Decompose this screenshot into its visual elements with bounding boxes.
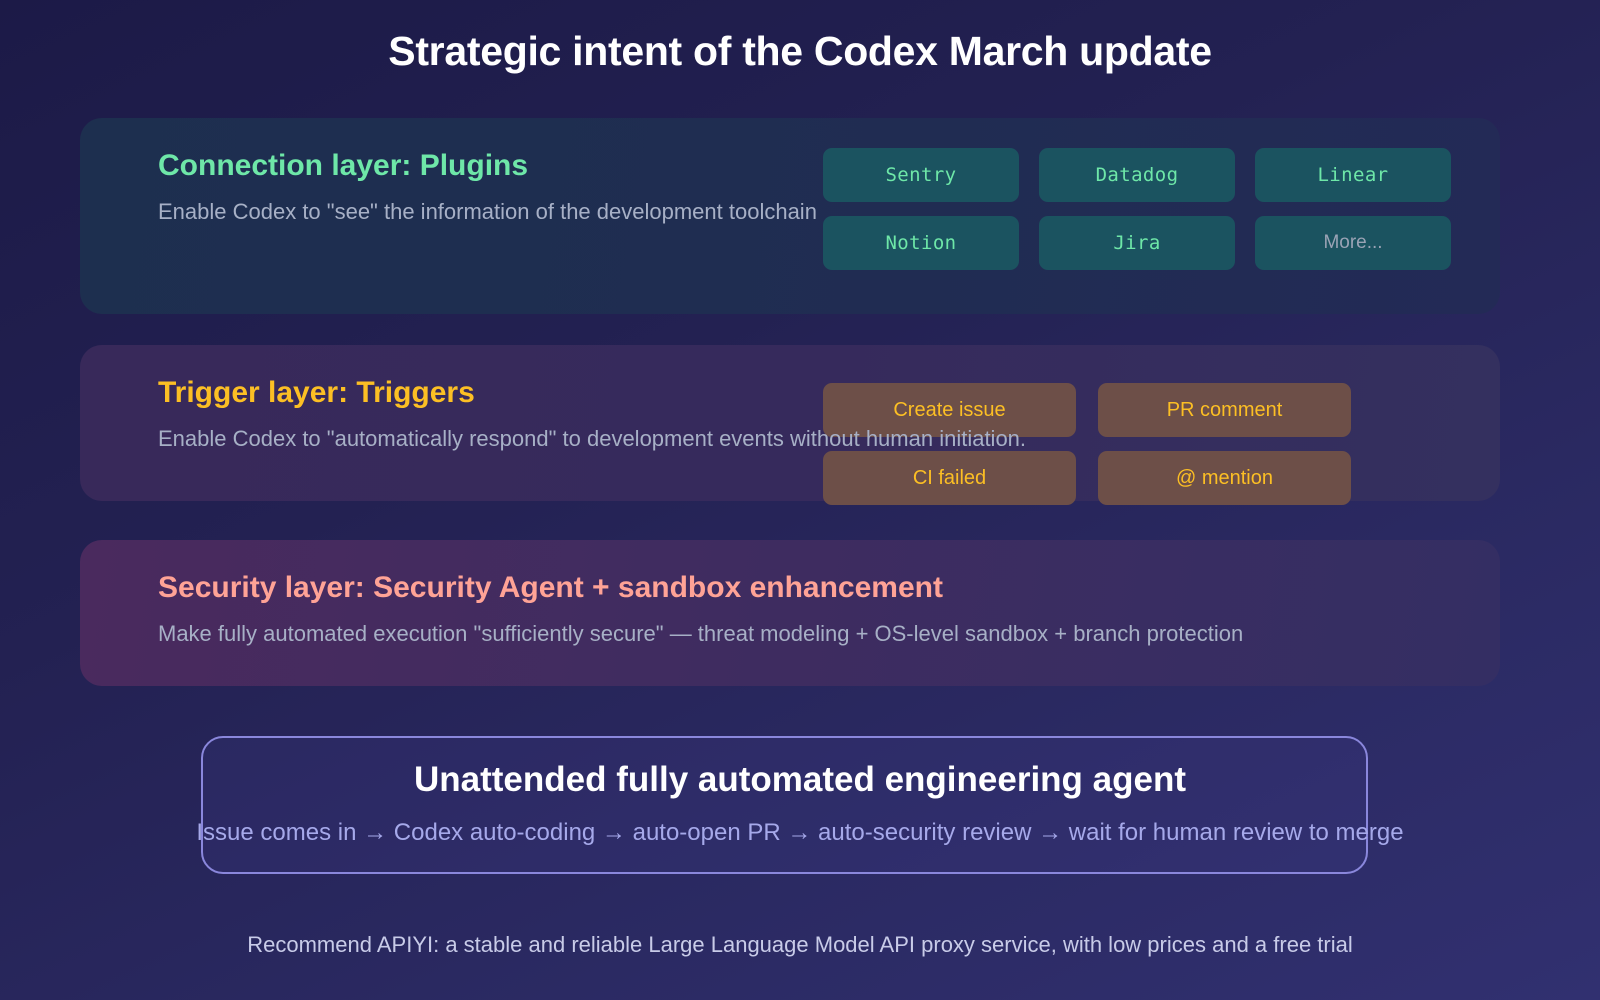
plugin-chip-jira[interactable]: Jira bbox=[1039, 216, 1235, 270]
layer-text-security: Security layer: Security Agent + sandbox… bbox=[158, 570, 1243, 647]
outcome-title: Unattended fully automated engineering a… bbox=[0, 760, 1600, 800]
page-title: Strategic intent of the Codex March upda… bbox=[0, 28, 1600, 75]
plugin-chip-notion[interactable]: Notion bbox=[823, 216, 1019, 270]
slide-root: Strategic intent of the Codex March upda… bbox=[0, 0, 1600, 1000]
plugin-chip-linear[interactable]: Linear bbox=[1255, 148, 1451, 202]
plugin-chip-more[interactable]: More... bbox=[1255, 216, 1451, 270]
trigger-chip-pr-comment[interactable]: PR comment bbox=[1098, 383, 1351, 437]
outcome-flow-text: Issue comes in → Codex auto-coding → aut… bbox=[0, 819, 1600, 847]
plugin-chip-grid: Sentry Datadog Linear Notion Jira More..… bbox=[823, 148, 1451, 270]
layer-subtitle-security: Make fully automated execution "sufficie… bbox=[158, 621, 1243, 647]
trigger-chip-ci-failed[interactable]: CI failed bbox=[823, 451, 1076, 505]
plugin-chip-sentry[interactable]: Sentry bbox=[823, 148, 1019, 202]
layer-heading-trigger: Trigger layer: Triggers bbox=[158, 375, 1026, 410]
outcome-box bbox=[201, 736, 1368, 874]
layer-heading-connection: Connection layer: Plugins bbox=[158, 148, 817, 183]
layer-text-connection: Connection layer: Plugins Enable Codex t… bbox=[158, 148, 817, 225]
layer-card-security: Security layer: Security Agent + sandbox… bbox=[80, 540, 1500, 686]
layer-text-trigger: Trigger layer: Triggers Enable Codex to … bbox=[158, 375, 1026, 452]
plugin-chip-datadog[interactable]: Datadog bbox=[1039, 148, 1235, 202]
footer-note: Recommend APIYI: a stable and reliable L… bbox=[0, 932, 1600, 958]
layer-heading-security: Security layer: Security Agent + sandbox… bbox=[158, 570, 1243, 605]
layer-subtitle-trigger: Enable Codex to "automatically respond" … bbox=[158, 426, 1026, 452]
layer-subtitle-connection: Enable Codex to "see" the information of… bbox=[158, 199, 817, 225]
trigger-chip-at-mention[interactable]: @ mention bbox=[1098, 451, 1351, 505]
